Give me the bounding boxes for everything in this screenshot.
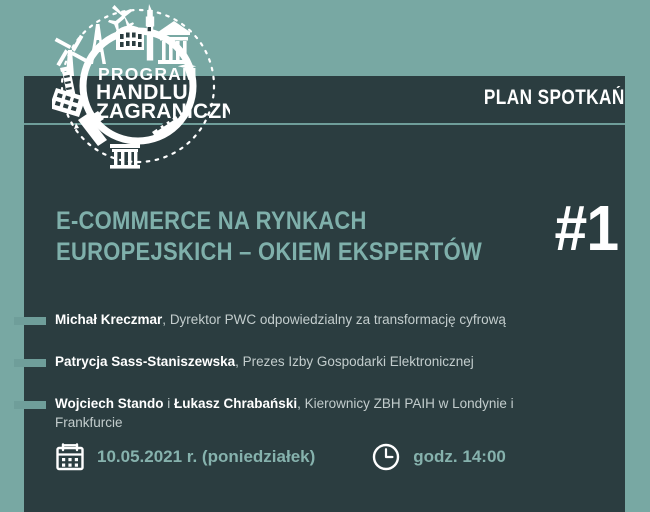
bullet-marker xyxy=(14,317,46,325)
speaker-entry: Wojciech Stando i Łukasz Chrabański, Kie… xyxy=(55,394,625,432)
header-title: PLAN SPOTKAŃ xyxy=(484,86,625,110)
list-item: Michał Kreczmar, Dyrektor PWC odpowiedzi… xyxy=(0,310,625,342)
speaker-separator: , xyxy=(235,354,243,369)
event-meta: 10.05.2021 r. (poniedziałek) godz. 14:00 xyxy=(55,442,506,472)
speaker-name: Wojciech Stando xyxy=(55,396,164,411)
speaker-entry: Patrycja Sass-Staniszewska, Prezes Izby … xyxy=(55,352,625,371)
list-item: Wojciech Stando i Łukasz Chrabański, Kie… xyxy=(0,394,625,432)
speaker-separator: , xyxy=(162,312,170,327)
bullet-marker xyxy=(14,359,46,367)
speaker-conjunction: i xyxy=(164,396,175,411)
page-title: E-COMMERCE NA RYNKACH EUROPEJSKICH – OKI… xyxy=(56,206,476,268)
speaker-name: Patrycja Sass-Staniszewska xyxy=(55,354,235,369)
globe-landmarks-logo: PROGRAM HANDLU ZAGRANICZNEGO xyxy=(52,2,230,170)
speaker-name-secondary: Łukasz Chrabański xyxy=(174,396,297,411)
event-date: 10.05.2021 r. (poniedziałek) xyxy=(55,442,315,472)
event-time-label: godz. 14:00 xyxy=(413,447,506,467)
speaker-role: Dyrektor PWC odpowiedzialny za transform… xyxy=(170,312,506,327)
speaker-list: Michał Kreczmar, Dyrektor PWC odpowiedzi… xyxy=(0,310,625,432)
calendar-icon xyxy=(55,442,85,472)
speaker-name: Michał Kreczmar xyxy=(55,312,162,327)
bullet-marker xyxy=(14,401,46,409)
clock-icon xyxy=(371,442,401,472)
poster-canvas: PLAN SPOTKAŃ xyxy=(0,0,650,512)
svg-text:ZAGRANICZNEGO: ZAGRANICZNEGO xyxy=(96,100,230,123)
title-line-1: E-COMMERCE NA RYNKACH xyxy=(56,206,426,237)
event-date-label: 10.05.2021 r. (poniedziałek) xyxy=(97,447,315,467)
issue-number-badge: #1 xyxy=(554,196,618,260)
speaker-separator: , xyxy=(297,396,305,411)
speaker-entry: Michał Kreczmar, Dyrektor PWC odpowiedzi… xyxy=(55,310,625,329)
speaker-role: Prezes Izby Gospodarki Elektronicznej xyxy=(243,354,474,369)
event-time: godz. 14:00 xyxy=(371,442,506,472)
title-line-2: EUROPEJSKICH – OKIEM EKSPERTÓW xyxy=(56,237,426,268)
list-item: Patrycja Sass-Staniszewska, Prezes Izby … xyxy=(0,352,625,384)
